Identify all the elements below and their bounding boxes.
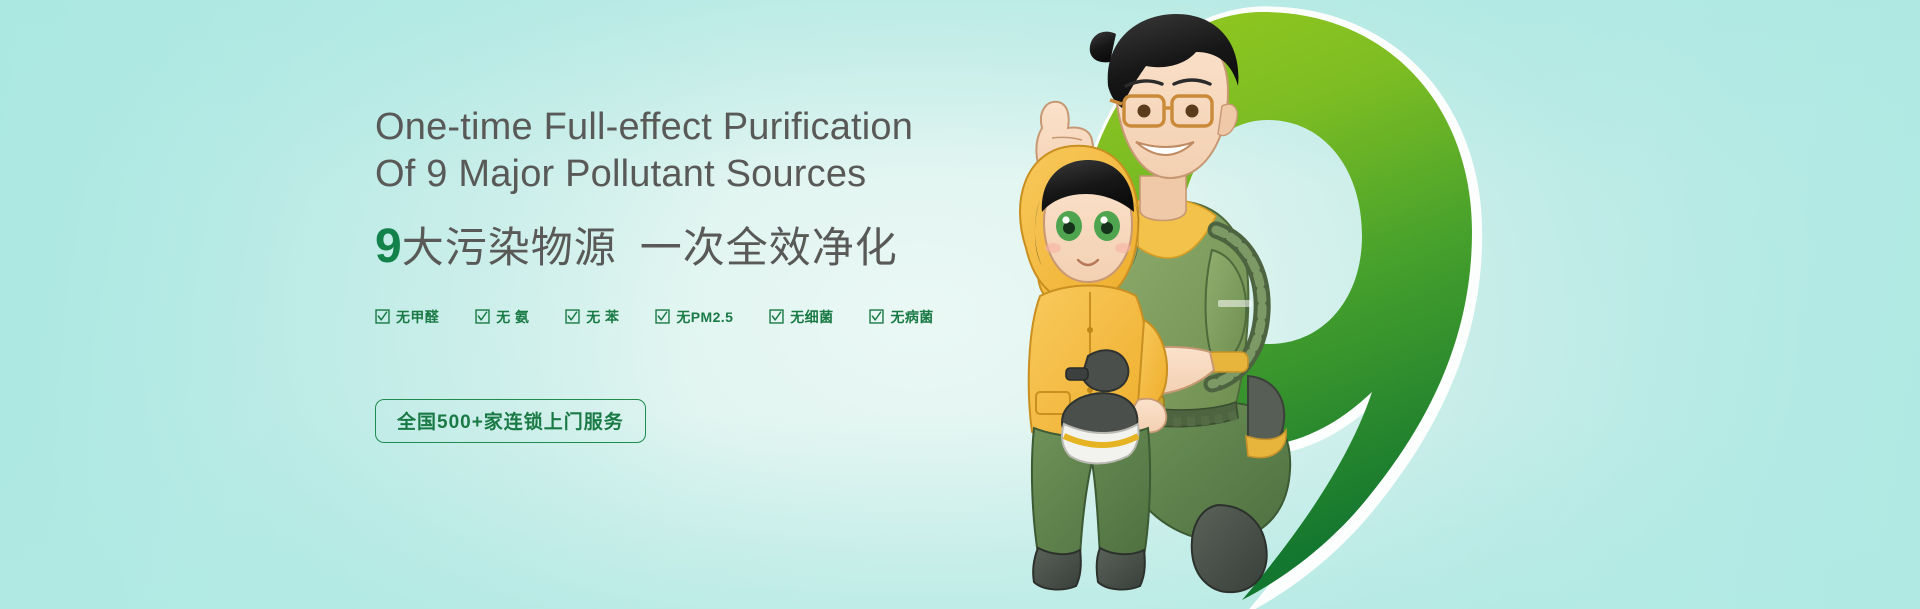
headline-chinese: 9 大污染物源 一次全效净化 — [375, 223, 934, 271]
headline-english-line1: One-time Full-effect Purification — [375, 108, 934, 148]
feature-badge-label: 无甲醛 — [396, 307, 439, 327]
feature-badge: 无 氨 — [475, 307, 529, 327]
sprayer-device — [1062, 350, 1139, 463]
copy-block: One-time Full-effect Purification Of 9 M… — [375, 108, 934, 443]
promo-banner: One-time Full-effect Purification Of 9 M… — [0, 0, 1920, 609]
feature-badge: 无 苯 — [565, 307, 619, 327]
feature-badge: 无PM2.5 — [655, 307, 733, 327]
checkbox-check-icon — [375, 309, 390, 324]
feature-badge-label: 无 氨 — [496, 307, 529, 327]
checkbox-check-icon — [869, 309, 884, 324]
headline-english: One-time Full-effect Purification Of 9 M… — [375, 108, 934, 195]
feature-badge: 无甲醛 — [375, 307, 439, 327]
technician-and-child-illustration — [980, 0, 1540, 609]
headline-chinese-part1: 大污染物源 — [402, 227, 617, 269]
headline-chinese-number: 9 — [375, 223, 401, 271]
checkbox-check-icon — [769, 309, 784, 324]
feature-badge-label: 无 苯 — [586, 307, 619, 327]
checkbox-check-icon — [655, 309, 670, 324]
checkbox-check-icon — [565, 309, 580, 324]
feature-badge-label: 无病菌 — [890, 307, 933, 327]
feature-badge-list: 无甲醛 无 氨 无 苯 无PM2.5 — [375, 307, 934, 327]
feature-badge: 无细菌 — [769, 307, 833, 327]
headline-english-line2: Of 9 Major Pollutant Sources — [375, 155, 934, 195]
nationwide-service-button[interactable]: 全国500+家连锁上门服务 — [375, 399, 646, 443]
checkbox-check-icon — [475, 309, 490, 324]
feature-badge-label: 无细菌 — [790, 307, 833, 327]
feature-badge: 无病菌 — [869, 307, 933, 327]
feature-badge-label: 无PM2.5 — [676, 307, 733, 327]
headline-chinese-part2: 一次全效净化 — [640, 227, 898, 269]
